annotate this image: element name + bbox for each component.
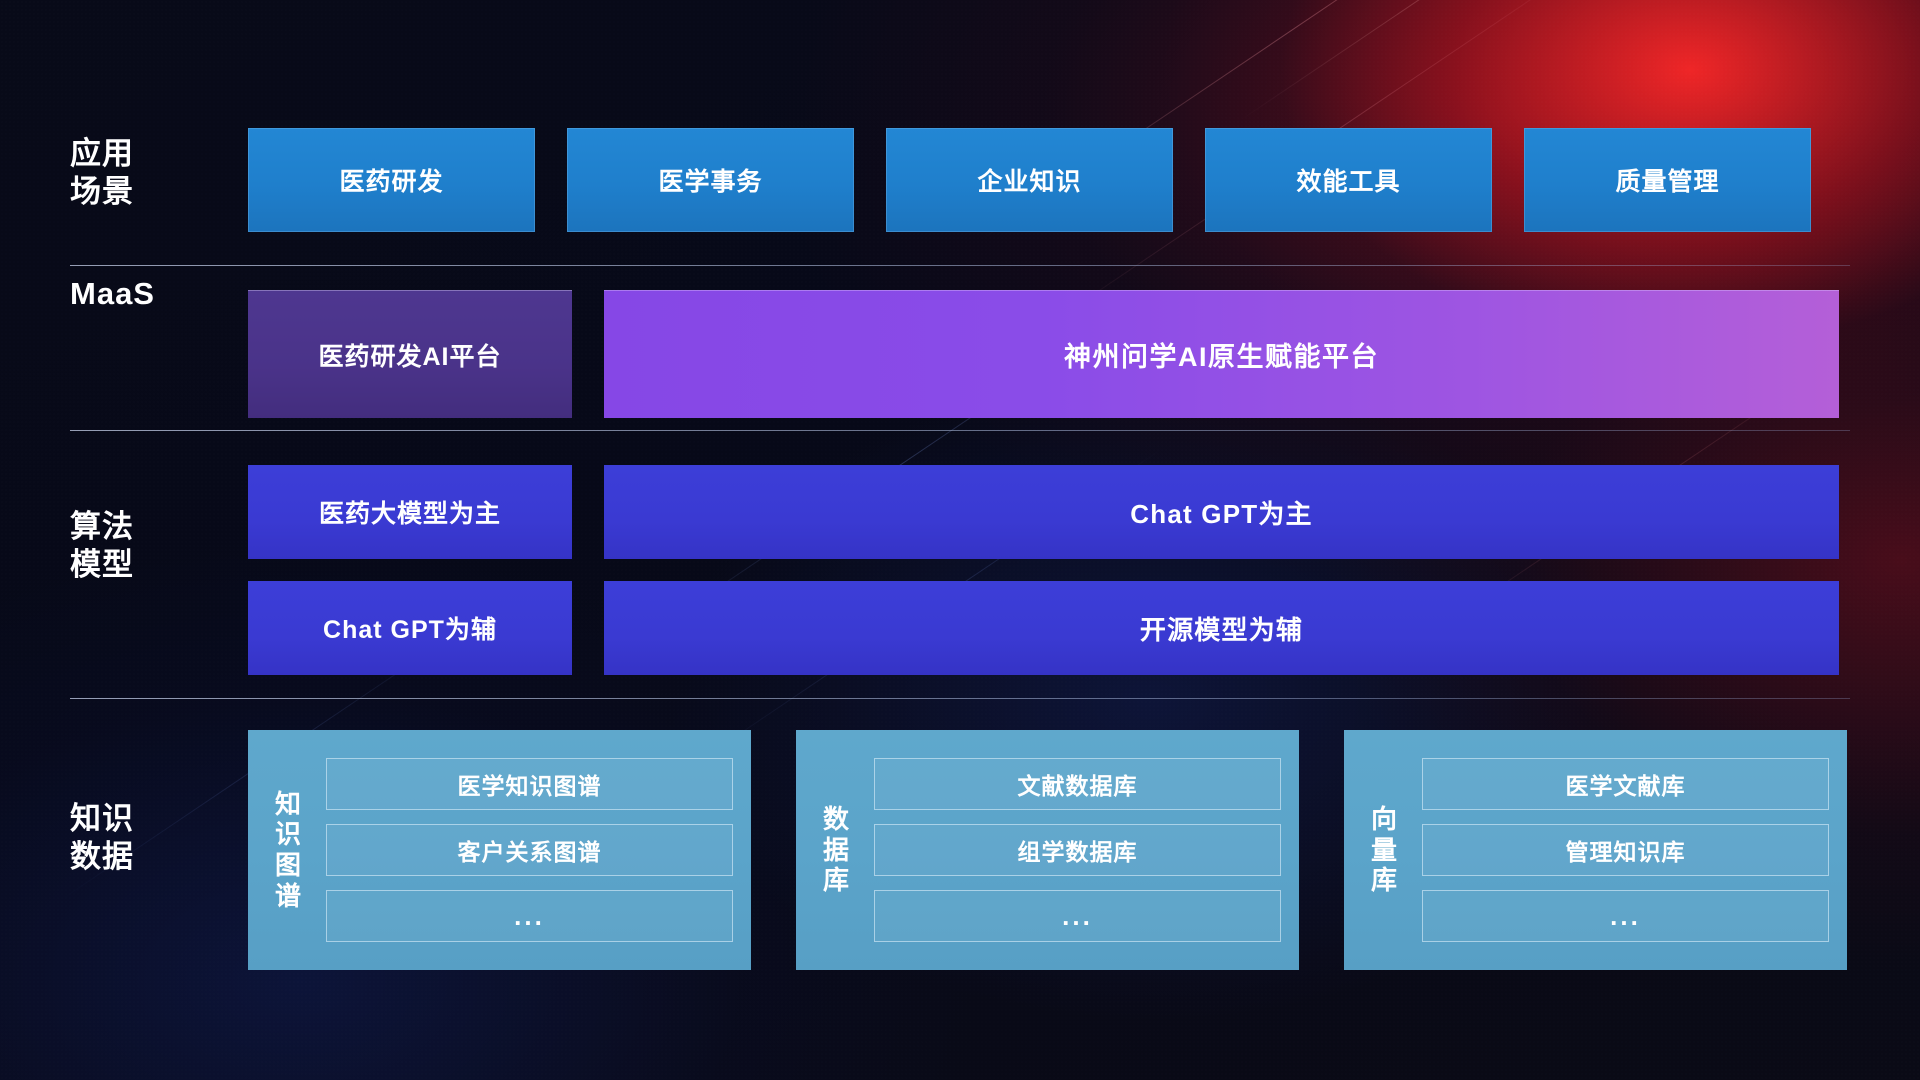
algo-box-label: 医药大模型为主: [319, 494, 501, 530]
knowledge-group-items: 医学知识图谱 客户关系图谱 ...: [326, 746, 733, 954]
knowledge-item[interactable]: 管理知识库: [1422, 824, 1829, 876]
algorithm-model-line-primary: 医药大模型为主 Chat GPT为主: [248, 465, 1920, 559]
app-box-label: 效能工具: [1296, 162, 1400, 198]
knowledge-data-groups: 知识图谱 医学知识图谱 客户关系图谱 ... 数据库 文献数据库 组学数据库 .…: [248, 730, 1920, 970]
app-box-efficiency-tools[interactable]: 效能工具: [1205, 128, 1492, 232]
row-label-application-scenarios: 应用 场景: [70, 135, 210, 211]
algo-box-label: 开源模型为辅: [1140, 610, 1303, 647]
knowledge-item[interactable]: 医学文献库: [1422, 758, 1829, 810]
app-box-medical-affairs[interactable]: 医学事务: [567, 128, 854, 232]
maas-box-label: 医药研发AI平台: [318, 337, 501, 373]
row-label-algorithm-models: 算法 模型: [70, 508, 210, 584]
algo-box-medicine-large-model[interactable]: 医药大模型为主: [248, 465, 572, 559]
architecture-diagram: 应用 场景 医药研发 医学事务 企业知识 效能工具 质量管理: [0, 0, 1920, 1080]
divider-after-maas: [70, 430, 1850, 431]
app-box-label: 企业知识: [977, 162, 1081, 198]
algo-box-label: Chat GPT为主: [1130, 494, 1312, 531]
algorithm-model-boxes: 医药大模型为主 Chat GPT为主 Chat GPT为辅 开源模型为辅: [248, 465, 1920, 675]
knowledge-item[interactable]: 组学数据库: [874, 824, 1281, 876]
app-box-quality-management[interactable]: 质量管理: [1524, 128, 1811, 232]
knowledge-group-database: 数据库 文献数据库 组学数据库 ...: [796, 730, 1299, 970]
maas-box-label: 神州问学AI原生赋能平台: [1064, 335, 1379, 374]
maas-boxes: 医药研发AI平台 神州问学AI原生赋能平台: [248, 290, 1920, 418]
app-box-enterprise-knowledge[interactable]: 企业知识: [886, 128, 1173, 232]
knowledge-item-more[interactable]: ...: [1422, 890, 1829, 942]
algo-box-chatgpt-primary[interactable]: Chat GPT为主: [604, 465, 1839, 559]
algo-box-chatgpt-secondary[interactable]: Chat GPT为辅: [248, 581, 572, 675]
knowledge-item[interactable]: 医学知识图谱: [326, 758, 733, 810]
knowledge-item[interactable]: 客户关系图谱: [326, 824, 733, 876]
knowledge-item-more[interactable]: ...: [326, 890, 733, 942]
app-box-label: 医药研发: [339, 162, 443, 198]
knowledge-group-title: 数据库: [814, 746, 858, 954]
divider-after-algorithm-models: [70, 698, 1850, 699]
knowledge-group-items: 文献数据库 组学数据库 ...: [874, 746, 1281, 954]
divider-after-application-scenarios: [70, 265, 1850, 266]
knowledge-group-items: 医学文献库 管理知识库 ...: [1422, 746, 1829, 954]
knowledge-group-title: 知识图谱: [266, 746, 310, 954]
algo-box-label: Chat GPT为辅: [323, 610, 497, 646]
row-label-maas: MaaS: [70, 275, 210, 313]
row-label-knowledge-data: 知识 数据: [70, 800, 210, 876]
algo-box-opensource-secondary[interactable]: 开源模型为辅: [604, 581, 1839, 675]
algorithm-model-line-secondary: Chat GPT为辅 开源模型为辅: [248, 581, 1920, 675]
maas-box-shenzhou-wenxue-platform[interactable]: 神州问学AI原生赋能平台: [604, 290, 1839, 418]
app-box-label: 质量管理: [1615, 162, 1719, 198]
maas-box-medicine-ai-platform[interactable]: 医药研发AI平台: [248, 290, 572, 418]
knowledge-group-title: 向量库: [1362, 746, 1406, 954]
knowledge-item-more[interactable]: ...: [874, 890, 1281, 942]
knowledge-group-vector-store: 向量库 医学文献库 管理知识库 ...: [1344, 730, 1847, 970]
knowledge-group-knowledge-graph: 知识图谱 医学知识图谱 客户关系图谱 ...: [248, 730, 751, 970]
app-box-medicine-rd[interactable]: 医药研发: [248, 128, 535, 232]
application-scenario-boxes: 医药研发 医学事务 企业知识 效能工具 质量管理: [248, 128, 1920, 232]
app-box-label: 医学事务: [658, 162, 762, 198]
knowledge-item[interactable]: 文献数据库: [874, 758, 1281, 810]
